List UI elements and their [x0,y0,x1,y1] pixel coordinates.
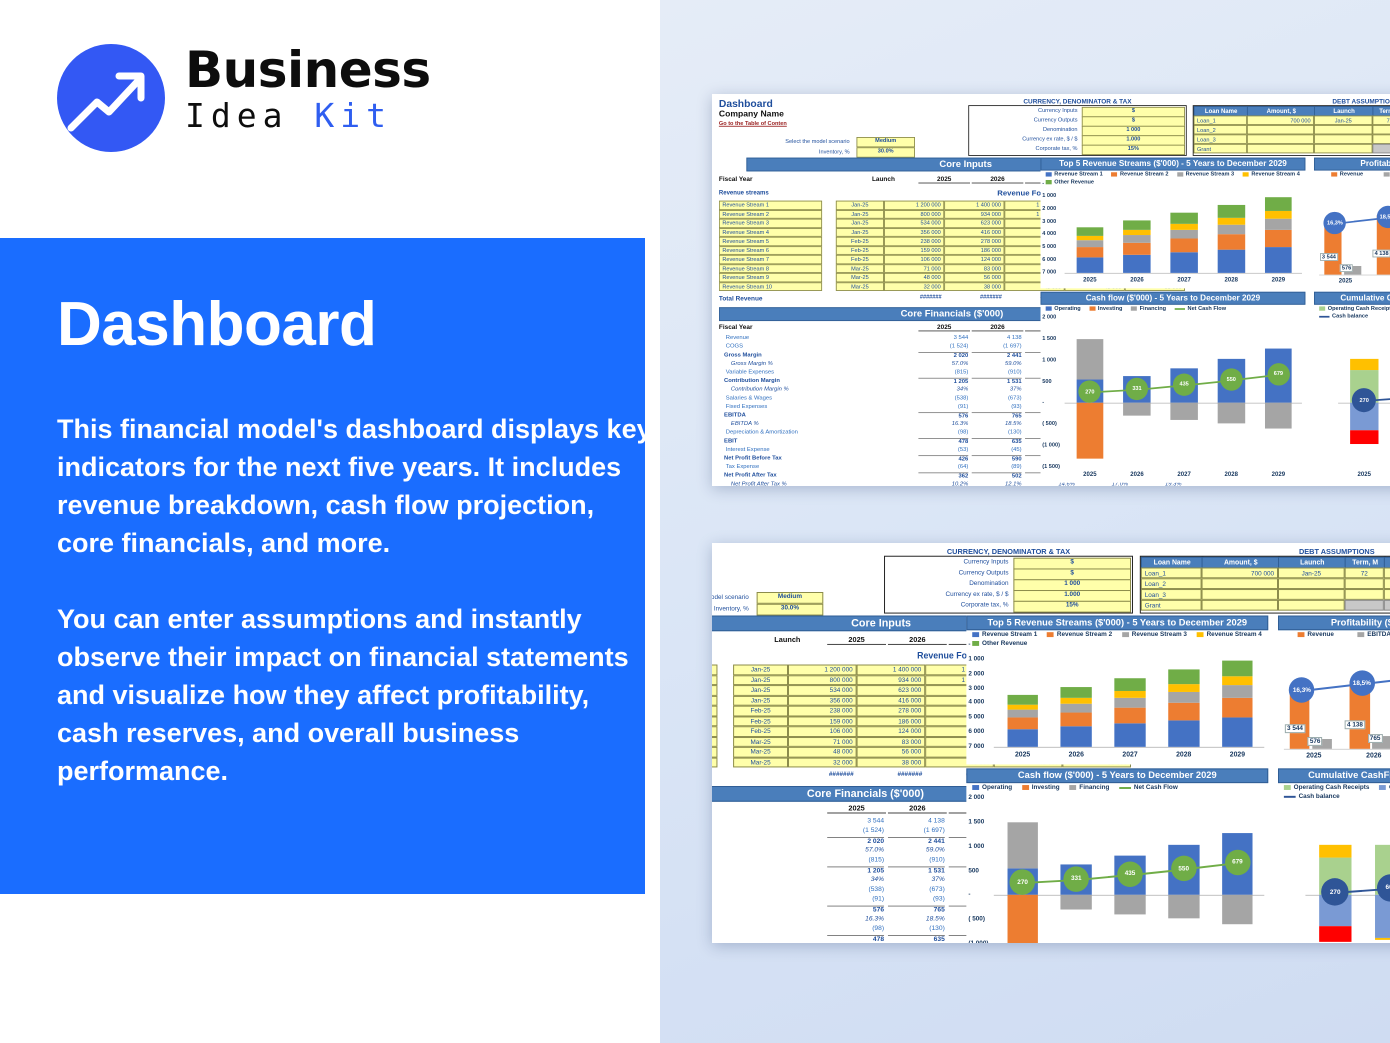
data-label-bubble: 331 [1126,378,1148,400]
revenue-stream-launch[interactable]: Feb-25 [836,246,884,255]
y-tick: 1 000 [1042,193,1056,199]
revenue-stream-name[interactable]: Revenue Stream 6 [712,716,717,726]
revenue-stream-value[interactable]: 238 000 [884,237,944,246]
cf-year: 2026 [888,804,947,814]
revenue-stream-value[interactable]: 159 000 [788,716,857,726]
data-label-revenue: 3 544 [1285,724,1305,733]
cf-row-value: (910) [888,857,945,864]
revenue-stream-name[interactable]: Revenue Stream 9 [712,747,717,757]
revenue-stream-value[interactable]: 534 000 [884,219,944,228]
bar-segment [1007,895,1038,943]
x-tick: 2026 [1372,278,1390,284]
bar-segment [1170,403,1197,420]
revenue-stream-value[interactable]: 71 000 [884,264,944,273]
bar-segment [1168,721,1199,747]
bar-segment [1061,713,1092,727]
promo-paragraph-1: This financial model's dashboard display… [57,410,652,562]
revenue-stream-value[interactable]: 106 000 [788,726,857,736]
debt-block-border [1193,105,1390,156]
cf-row-value: 1 205 [827,866,884,874]
x-tick: 2026 [1113,472,1160,478]
revenue-stream-value[interactable]: 83 000 [944,264,1004,273]
cf-row-value: 590 [972,455,1022,462]
cf-row-label: EBITDA % [731,421,759,427]
chart-cash-flow[interactable]: Cash flow ($'000) - 5 Years to December … [966,768,1268,943]
bar-segment [1170,230,1197,239]
revenue-stream-name[interactable]: Revenue Stream 7 [719,255,822,264]
bar-segment [1265,197,1292,211]
bar-segment [1218,403,1245,424]
scenario-label: Select the model scenario [738,139,850,145]
cf-row-value: (93) [888,896,945,903]
revenue-stream-name[interactable]: Revenue Stream 4 [719,228,822,237]
legend-item: Net Cash Flow [1119,784,1178,791]
y-tick: (1 000) [968,940,988,943]
cf-row-label: Fixed Expenses [726,404,768,410]
revenue-stream-launch[interactable]: Feb-25 [733,726,788,736]
revenue-stream-launch[interactable]: Jan-25 [836,228,884,237]
bar-segment [1168,692,1199,704]
revenue-stream-launch[interactable]: Mar-25 [836,273,884,282]
revenue-stream-launch[interactable]: Mar-25 [836,282,884,291]
y-tick: 3 000 [968,685,984,692]
cf-row-value: 16.3% [827,915,884,922]
cf-row-value: 4 138 [972,335,1022,341]
bar-segment [1076,403,1103,458]
legend-item: Investing [1022,784,1060,791]
revenue-stream-name[interactable]: Revenue Stream 3 [712,685,717,695]
legend-item: Revenue [1331,171,1363,177]
revenue-stream-value[interactable]: 934 000 [857,675,926,685]
revenue-stream-launch[interactable]: Jan-25 [733,665,788,675]
revenue-stream-launch[interactable]: Jan-25 [733,675,788,685]
cf-row-value: 362 [918,472,968,479]
data-label-bubble: 679 [1225,849,1250,874]
chart-title: Cash flow ($'000) - 5 Years to December … [1041,292,1306,305]
cf-row-value: (98) [918,429,968,435]
cf-row-value: (538) [827,886,884,893]
y-tick: 2 000 [1042,206,1056,212]
inventory-input[interactable]: 30.0% [856,147,914,157]
bar-segment [1168,684,1199,692]
revenue-stream-name[interactable]: Revenue Stream 2 [712,675,717,685]
bar-segment [1114,895,1145,914]
cf-row-value: 635 [972,438,1022,445]
core-inputs-year: 2026 [888,635,947,645]
cf-row-label: EBIT [724,438,737,444]
currency-block-title: CURRENCY, DENOMINATOR & TAX [886,547,1131,556]
cf-row-value: (1 524) [918,343,968,349]
chart-title: Cumulative CashFlow ($'000) - 5 Years to… [1278,768,1390,783]
chart-title: Profitability ($'000) - 5 Years to Decem… [1278,616,1390,631]
bar-segment [1168,895,1199,918]
cf-row-value: (1 697) [888,827,945,834]
chart-title: Top 5 Revenue Streams ($'000) - 5 Years … [1041,158,1306,171]
y-tick: 5 000 [1042,244,1056,250]
bar-segment [1222,895,1253,924]
chart-cumulative-cashflow[interactable]: Cumulative CashFlow ($'000) - 5 Years to… [1278,768,1390,943]
debt-block-title: DEBT ASSUMPTIONS [1141,547,1390,556]
revenue-stream-launch[interactable]: Jan-25 [836,201,884,210]
sheet-title: Dashboard [719,97,773,109]
bar-segment [1007,695,1038,705]
chart-legend: RevenueEBITDAEBITDA % [1292,629,1390,638]
cf-row-value: 2 441 [888,837,945,845]
y-tick: 500 [968,867,979,874]
cf-row-value: (1 697) [972,343,1022,349]
axis-line [1319,275,1390,276]
chart-revenue-streams[interactable]: Top 5 Revenue Streams ($'000) - 5 Years … [1041,158,1306,289]
scenario-select[interactable]: Medium [757,592,824,604]
dashboard-screenshot-top[interactable]: DashboardCompany NameGo to the Table of … [712,94,1390,486]
axis-line [1284,749,1390,750]
revenue-stream-value[interactable]: 1 400 000 [857,665,926,675]
revenue-stream-value[interactable]: 83 000 [857,737,926,747]
cf-year: 2025 [918,323,970,332]
bar-segment [1114,708,1145,724]
revenue-stream-value[interactable]: 186 000 [857,716,926,726]
revenue-stream-value[interactable]: 71 000 [788,737,857,747]
revenue-stream-launch[interactable]: Feb-25 [733,706,788,716]
x-tick: 2025 [1319,278,1372,284]
cf-row-value: 18.5% [972,421,1022,427]
bar-segment [1123,403,1150,416]
chart-title: Top 5 Revenue Streams ($'000) - 5 Years … [966,616,1268,631]
axis-line [994,747,1264,748]
x-tick: 2026 [1049,752,1103,759]
bar-segment [1007,705,1038,710]
spreadsheet-bottom: DashboardCompany NameGo to the Table of … [712,543,1292,943]
cf-row-value: 3 544 [918,335,968,341]
legend-item: Revenue Stream 2 [1047,631,1112,638]
revenue-stream-name[interactable]: Revenue Stream 3 [719,219,822,228]
cf-row-value: 10.2% [918,481,968,486]
y-tick: (1 500) [1042,464,1060,470]
chart-legend: Operating Cash ReceiptsOperating Cash Pa… [1314,304,1390,319]
legend-item: Cash balance [1284,793,1340,800]
y-tick: (1 000) [1042,442,1060,448]
bar-segment [1114,698,1145,708]
chart-profitability[interactable]: Profitability ($'000) - 5 Years to Decem… [1278,616,1390,765]
revenue-stream-value[interactable]: 416 000 [857,695,926,705]
revenue-stream-name[interactable]: Revenue Stream 8 [712,737,717,747]
bar-segment [1061,704,1092,713]
cf-row-value: 59.0% [972,361,1022,367]
bar-segment [1076,236,1103,241]
debt-block-title: DEBT ASSUMPTIONS [1194,97,1390,105]
revenue-stream-value[interactable]: 1 200 000 [884,201,944,210]
dashboard-screenshot-bottom[interactable]: DashboardCompany NameGo to the Table of … [712,543,1390,943]
revenue-stream-launch[interactable]: Mar-25 [733,757,788,767]
bar-segment [1265,247,1292,273]
cf-row-label: Depreciation & Amortization [726,429,798,435]
x-tick: 2028 [1157,752,1211,759]
y-tick: 1 000 [968,656,984,663]
revenue-stream-value[interactable]: 38 000 [944,282,1004,291]
total-revenue-value: ####### [857,771,926,778]
revenue-stream-value[interactable]: 934 000 [944,210,1004,219]
revenue-stream-value[interactable]: 416 000 [944,228,1004,237]
bar-segment [1218,235,1245,250]
bar-segment [1061,698,1092,704]
cf-row-value: 576 [918,412,968,419]
y-tick: 4 000 [1042,231,1056,237]
promo-paragraph-2: You can enter assumptions and instantly … [57,600,657,790]
scenario-select[interactable]: Medium [856,137,914,147]
cf-row-value: (538) [918,395,968,401]
legend-item: Revenue Stream 3 [1122,631,1187,638]
revenue-stream-value[interactable]: 56 000 [857,747,926,757]
cf-row-label: Gross Margin [724,352,762,358]
y-tick: 7 000 [968,743,984,750]
brand-name-line2: Idea Kit [185,96,455,136]
cf-row-value: 57.0% [827,847,884,854]
table-of-contents-link[interactable]: Go to the Table of Conten [719,121,787,127]
cf-row-value: 3 544 [827,817,884,824]
cf-row-value: 57.0% [918,361,968,367]
revenue-stream-name[interactable]: Revenue Stream 5 [712,706,717,716]
revenue-stream-value[interactable]: 1 200 000 [788,665,857,675]
y-tick: 2 000 [968,794,984,801]
revenue-stream-launch[interactable]: Feb-25 [733,716,788,726]
data-label-revenue: 3 544 [1320,253,1337,261]
cf-row-value: 1 205 [918,378,968,385]
revenue-stream-launch[interactable]: Jan-25 [733,685,788,695]
cf-row-label: Net Profit After Tax [724,472,777,478]
revenue-stream-value[interactable]: 534 000 [788,685,857,695]
cf-row-value: 765 [888,906,945,914]
bar-segment [1222,685,1253,698]
chart-legend: Operating Cash ReceiptsOperating Cash Pa… [1278,782,1390,800]
revenue-stream-value[interactable]: 38 000 [857,757,926,767]
revenue-stream-name[interactable]: Revenue Stream 1 [719,201,822,210]
cf-row-label: Gross Margin % [731,361,773,367]
x-tick: 2025 [1340,472,1389,478]
revenue-stream-value[interactable]: 356 000 [884,228,944,237]
bar-segment [1319,845,1351,857]
revenue-stream-value[interactable]: 356 000 [788,695,857,705]
cf-row-value: 37% [972,386,1022,392]
bar-segment [1076,339,1103,379]
brand-logo: Business Idea Kit [57,38,457,158]
cf-year: 2025 [827,804,886,814]
y-tick: 4 000 [968,699,984,706]
bar-segment [1218,250,1245,273]
revenue-stream-name[interactable]: Revenue Stream 9 [719,273,822,282]
revenue-stream-launch[interactable]: Jan-25 [733,695,788,705]
legend-item: Financing [1131,306,1166,312]
x-tick: 2027 [1161,277,1208,283]
bar-segment [1007,729,1038,746]
cf-row-value: 37% [888,876,945,883]
growth-arrow-icon [57,44,165,152]
cf-row-value: 635 [888,935,945,943]
legend-item: Operating [1046,306,1081,312]
bar-segment [1114,678,1145,691]
revenue-stream-launch[interactable]: Feb-25 [836,237,884,246]
legend-item: Revenue [1298,631,1334,638]
bar-segment [1007,822,1038,868]
data-label-bubble: 16,3% [1289,677,1314,702]
legend-item: EBITDA [1357,631,1390,638]
data-label-bubble: 16,3% [1324,212,1346,234]
bar-segment [1061,895,1092,910]
cf-row-value: (130) [972,429,1022,435]
bar-segment [1170,212,1197,223]
bar-segment [1222,698,1253,717]
data-label-bubble: 18,5% [1349,670,1374,695]
revenue-stream-name[interactable]: Revenue Stream 4 [712,695,717,705]
bar-segment [1061,687,1092,698]
bar-segment [1114,724,1145,747]
legend-item: Operating Cash Receipts [1284,784,1370,791]
revenue-stream-value[interactable]: 1 400 000 [944,201,1004,210]
chart-legend: OperatingInvestingFinancingNet Cash Flow [966,782,1278,791]
cf-row-value: (910) [972,369,1022,375]
cf-row-label: EBITDA [724,412,746,418]
data-label-bubble: 550 [1220,368,1242,390]
revenue-stream-launch[interactable]: Mar-25 [733,747,788,757]
cf-row-value: 2 441 [972,352,1022,359]
inventory-input[interactable]: 30.0% [757,604,824,616]
data-label-ebitda: 576 [1340,265,1353,273]
revenue-stream-name[interactable]: Revenue Stream 10 [712,757,717,767]
y-tick: 1 500 [1042,336,1056,342]
total-revenue-label: Total Revenue [719,294,763,302]
core-inputs-year: 2025 [918,175,970,184]
legend-item: Revenue Stream 1 [972,631,1037,638]
revenue-stream-value[interactable]: 800 000 [884,210,944,219]
legend-item: Revenue Stream 3 [1177,171,1234,177]
revenue-stream-value[interactable]: 124 000 [944,255,1004,264]
cf-row-value: 502 [972,472,1022,479]
revenue-streams-label: Revenue streams [719,190,769,196]
data-label-ebitda: 765 [1368,734,1383,743]
cf-row-value: (64) [918,464,968,470]
cf-row-label: Contribution Margin % [731,386,789,392]
bar-segment [1265,211,1292,219]
revenue-stream-value[interactable]: 238 000 [788,706,857,716]
revenue-stream-value[interactable]: 56 000 [944,273,1004,282]
bar-segment [1076,247,1103,257]
legend-item: Operating Cash Receipts [1319,306,1390,312]
x-tick: 2027 [1103,752,1157,759]
cf-row-value: (45) [972,447,1022,453]
legend-item: Other Revenue [1046,179,1094,185]
revenue-stream-value[interactable]: 278 000 [944,237,1004,246]
company-name: Company Name [719,109,784,118]
bar-segment [1319,926,1351,942]
cf-row-label: Revenue [726,335,749,341]
legend-item: EBITDA [1384,171,1390,177]
legend-item: Revenue Stream 1 [1046,171,1103,177]
y-tick: - [1042,400,1044,406]
revenue-stream-value[interactable]: 623 000 [944,219,1004,228]
bar-segment [1114,691,1145,698]
data-label-revenue: 4 138 [1345,720,1365,729]
cf-row-value: (93) [972,404,1022,410]
fiscal-year-label: Fiscal Year [719,175,753,183]
bar-segment [1218,224,1245,234]
x-tick: 2029 [1255,277,1302,283]
y-tick: - [1042,180,1044,186]
bar-segment [1265,219,1292,230]
revenue-stream-value[interactable]: 186 000 [944,246,1004,255]
data-label-ebitda: 576 [1308,737,1323,746]
revenue-stream-name[interactable]: Revenue Stream 7 [712,726,717,736]
chart-title: Cash flow ($'000) - 5 Years to December … [966,768,1268,783]
revenue-stream-name[interactable]: Revenue Stream 5 [719,237,822,246]
bar-segment [1350,430,1378,444]
y-tick: 1 000 [968,843,984,850]
y-tick: 2 000 [1042,314,1056,320]
cf-row-value: 18.5% [888,915,945,922]
chart-title: Cumulative CashFlow ($'000) - 5 Years to… [1314,292,1390,305]
y-tick: ( 500) [968,916,985,923]
revenue-stream-name[interactable]: Revenue Stream 8 [719,264,822,273]
revenue-stream-launch[interactable]: Feb-25 [836,255,884,264]
revenue-stream-value[interactable]: 800 000 [788,675,857,685]
chart-profitability[interactable]: Profitability ($'000) - 5 Years to Decem… [1314,158,1390,289]
x-tick: 2025 [1066,472,1113,478]
data-label-bubble: 550 [1171,856,1196,881]
core-inputs-year: 2025 [827,635,886,645]
revenue-stream-name[interactable]: Revenue Stream 2 [719,210,822,219]
revenue-stream-value[interactable]: 159 000 [884,246,944,255]
revenue-stream-value[interactable]: 623 000 [857,685,926,695]
revenue-stream-value[interactable]: 48 000 [788,747,857,757]
cf-row-label: Net Profit After Tax % [731,481,787,486]
data-label-bubble: 435 [1173,373,1195,395]
cf-row-value: (130) [888,925,945,932]
revenue-stream-launch[interactable]: Jan-25 [836,219,884,228]
y-tick: - [968,641,970,648]
revenue-stream-launch[interactable]: Jan-25 [836,210,884,219]
cf-row-label: Contribution Margin [724,378,780,384]
revenue-stream-launch[interactable]: Mar-25 [733,737,788,747]
chart-revenue-streams[interactable]: Top 5 Revenue Streams ($'000) - 5 Years … [966,616,1268,765]
y-tick: 500 [1042,378,1051,384]
revenue-stream-launch[interactable]: Mar-25 [836,264,884,273]
revenue-stream-name[interactable]: Revenue Stream 10 [719,282,822,291]
cf-row-value: 34% [827,876,884,883]
bar-segment [1170,224,1197,230]
revenue-stream-value[interactable]: 32 000 [884,282,944,291]
bar-segment [1076,240,1103,247]
revenue-stream-name[interactable]: Revenue Stream 1 [712,665,717,675]
brand-name-line1: Business [185,44,455,96]
x-tick: 2027 [1161,472,1208,478]
inventory-label: Inventory, % [712,606,749,613]
revenue-stream-value[interactable]: 124 000 [857,726,926,736]
cf-row-value: 34% [918,386,968,392]
revenue-stream-name[interactable]: Revenue Stream 6 [719,246,822,255]
chart-cash-flow[interactable]: Cash flow ($'000) - 5 Years to December … [1041,292,1306,483]
y-tick: 2 000 [968,670,984,677]
revenue-stream-value[interactable]: 32 000 [788,757,857,767]
scenario-label: Select the model scenario [712,594,749,601]
chart-cumulative-cashflow[interactable]: Cumulative CashFlow ($'000) - 5 Years to… [1314,292,1390,483]
revenue-stream-value[interactable]: 278 000 [857,706,926,716]
chart-legend: Revenue Stream 1Revenue Stream 2Revenue … [1041,170,1314,185]
bar-segment [1265,403,1292,428]
bar-segment [1123,220,1150,230]
revenue-stream-value[interactable]: 48 000 [884,273,944,282]
revenue-stream-value[interactable]: 106 000 [884,255,944,264]
cf-row-value: (89) [972,464,1022,470]
legend-item: Revenue Stream 4 [1243,171,1300,177]
inventory-label: Inventory, % [738,149,850,155]
